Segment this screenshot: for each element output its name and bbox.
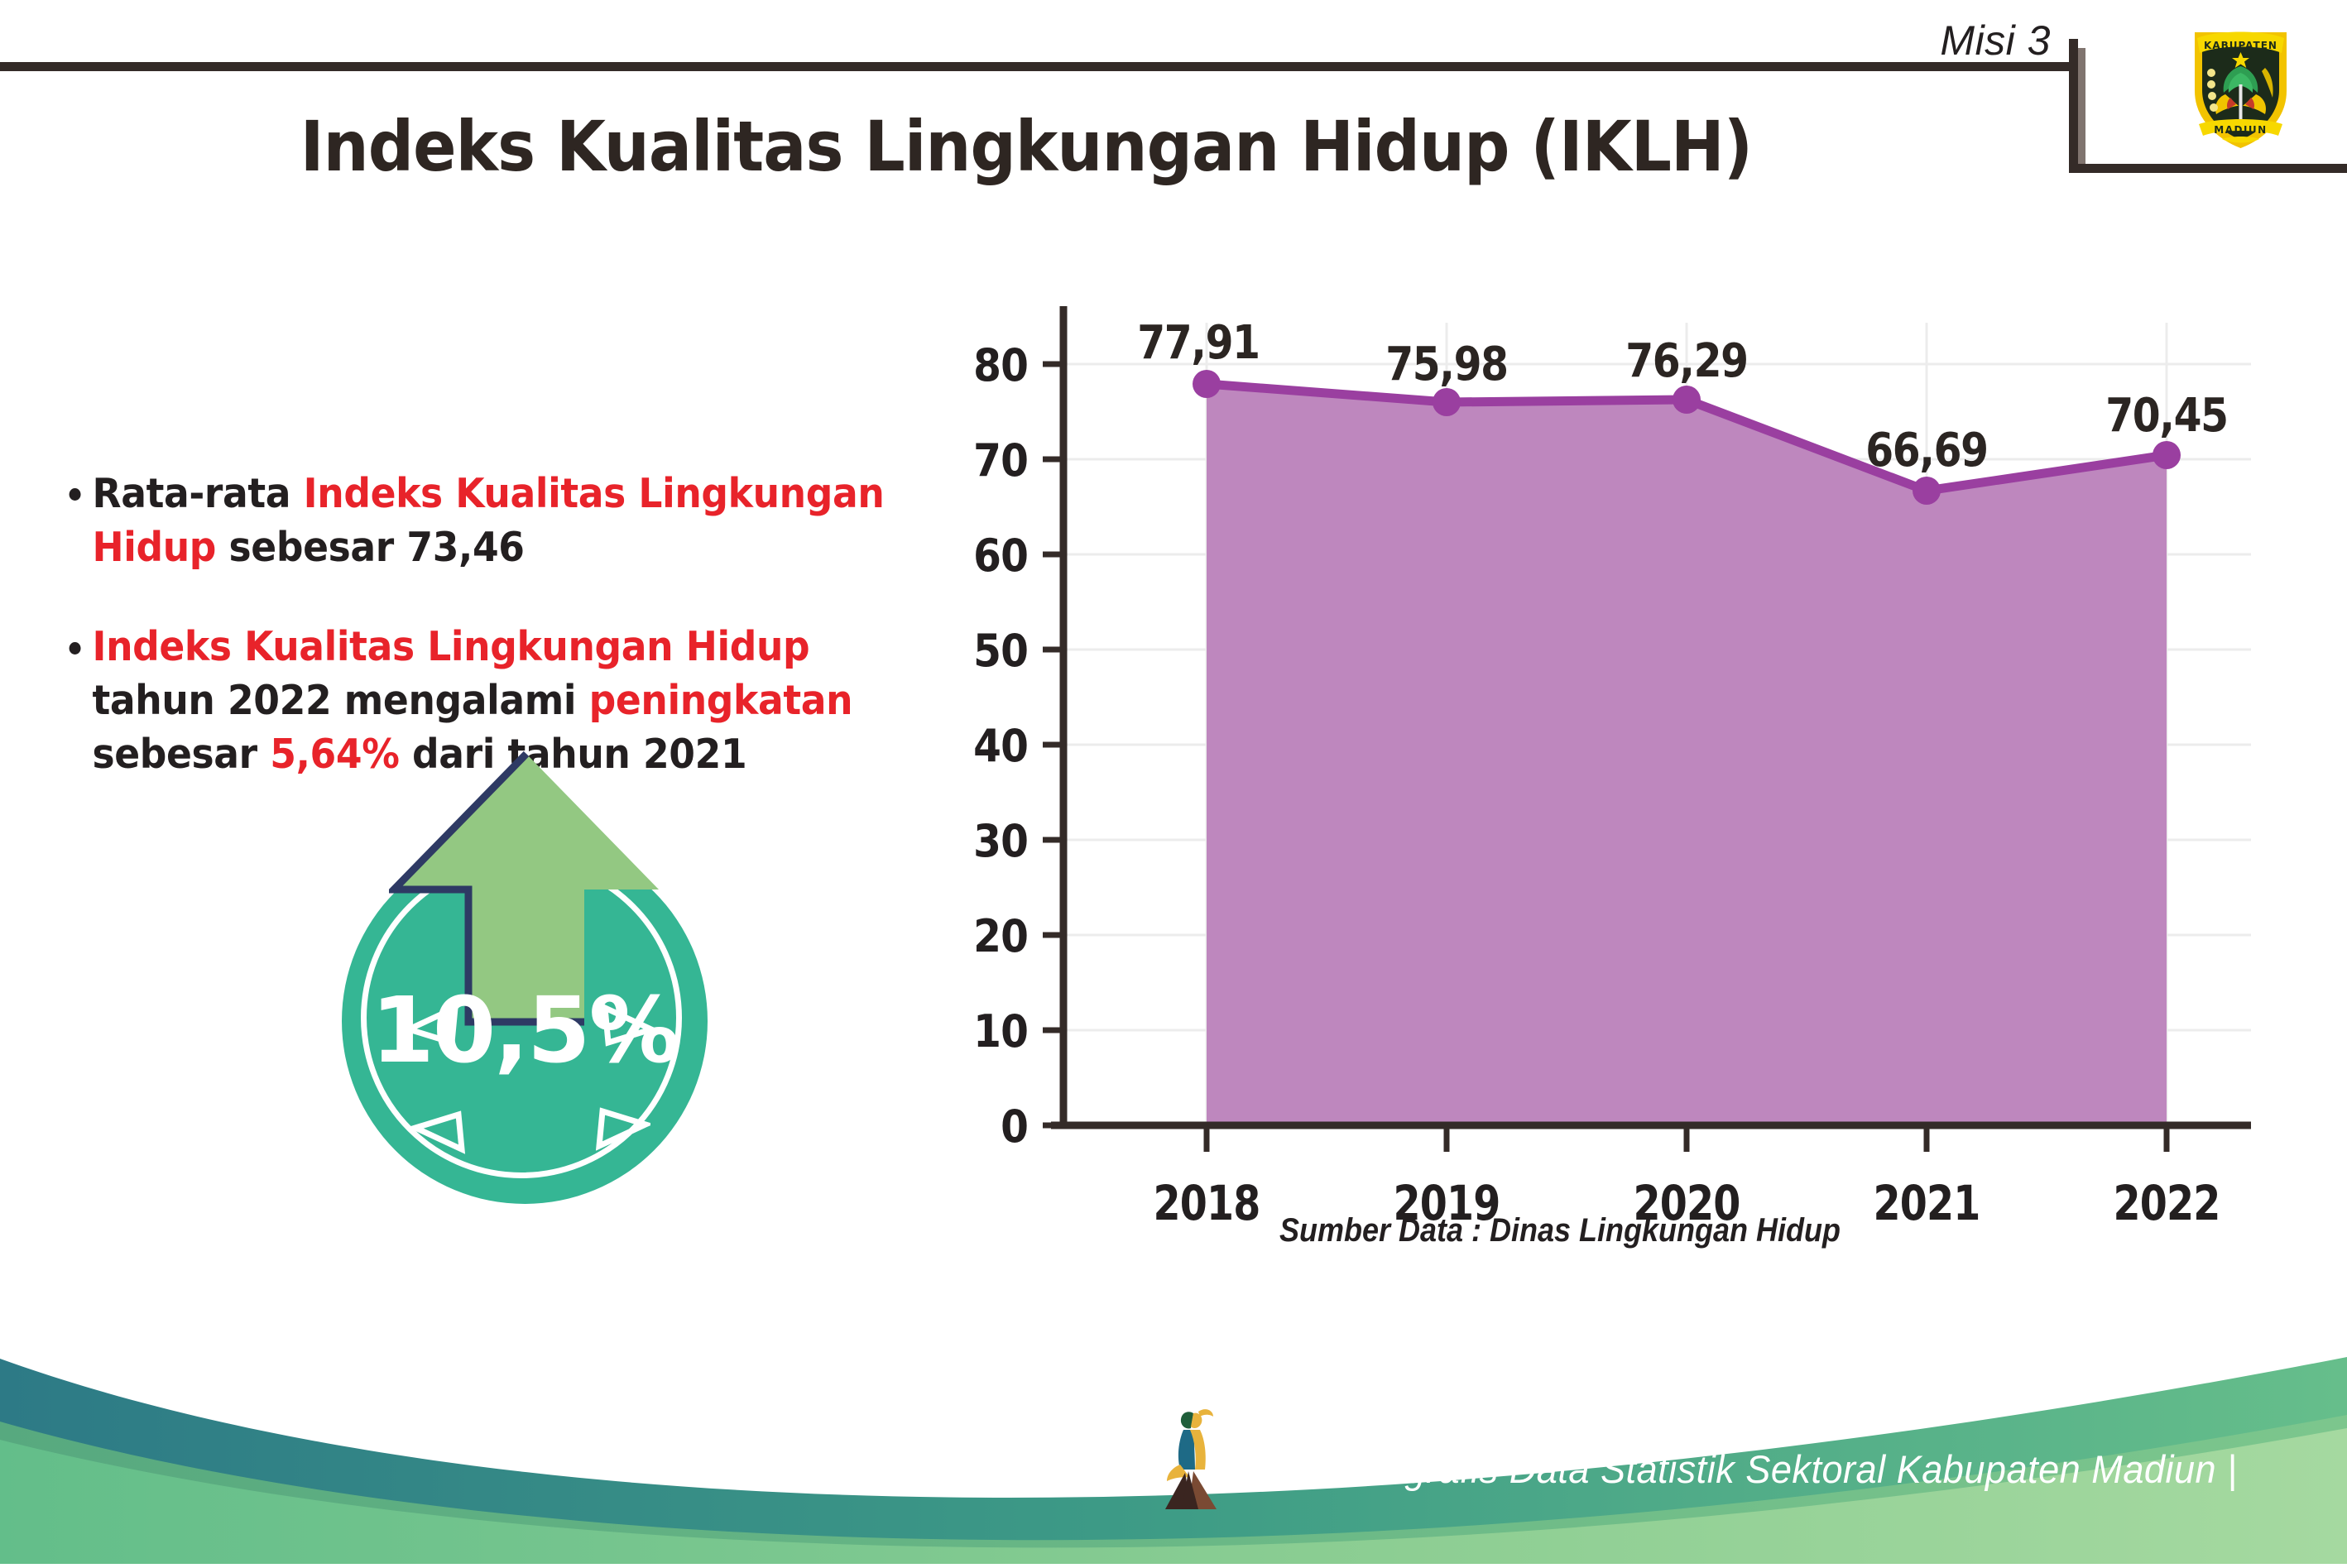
footer-text: Media Infografis Data Statistik Sektoral… (1226, 1446, 2237, 1492)
y-tick-label: 50 (931, 625, 1028, 677)
bullet-1-seg-1: Rata-rata (92, 470, 303, 517)
y-tick-label: 30 (931, 815, 1028, 867)
bullet-2-seg-4: sebesar (92, 731, 270, 778)
page-title: Indeks Kualitas Lingkungan Hidup (IKLH) (82, 106, 1970, 187)
iklh-area-chart: 80 70 60 50 40 30 20 10 0 2018 2019 2020… (927, 273, 2292, 1283)
y-tick-label: 60 (931, 530, 1028, 582)
y-tick-label: 20 (931, 910, 1028, 962)
dancer-mascot-icon (1147, 1405, 1236, 1513)
chart-area-fill (1207, 384, 2167, 1125)
bullet-1-seg-3: sebesar 73,46 (216, 524, 525, 571)
bullet-2-seg-2: tahun 2022 mengalami (92, 677, 588, 724)
mission-label: Misi 3 (1836, 17, 2051, 65)
bullet-dot (70, 642, 81, 655)
data-label: 70,45 (2073, 389, 2260, 443)
infographic-slide: Misi 3 KABUPATEN MADIUN I (0, 0, 2347, 1564)
bullet-2-seg-3: peningkatan (589, 677, 853, 724)
data-label: 75,98 (1353, 338, 1540, 391)
data-label: 77,91 (1105, 316, 1292, 370)
badge-tick-bottom-left-icon (410, 1103, 468, 1154)
y-tick-label: 70 (931, 434, 1028, 487)
badge-value: 10,5% (342, 985, 708, 1076)
data-label: 66,69 (1833, 424, 2020, 477)
data-label: 76,29 (1593, 334, 1780, 388)
bullet-dot (70, 488, 81, 501)
svg-text:MADIUN: MADIUN (2214, 124, 2267, 136)
badge-tick-bottom-right-icon (593, 1100, 650, 1151)
chart-x-ticks (1207, 1125, 2167, 1152)
header-bracket-vertical (2069, 39, 2078, 173)
increase-badge: 10,5% (313, 749, 743, 1204)
y-tick-label: 10 (931, 1005, 1028, 1057)
header-bracket-shadow (2078, 48, 2085, 173)
bullet-2-seg-1: Indeks Kualitas Lingkungan Hidup (92, 623, 809, 670)
list-item: Rata-rata Indeks Kualitas Lingkungan Hid… (65, 468, 919, 574)
kabupaten-madiun-logo-icon: KABUPATEN MADIUN (2189, 18, 2292, 151)
bullet-list: Rata-rata Indeks Kualitas Lingkungan Hid… (65, 468, 983, 781)
header-rule (0, 62, 2077, 71)
source-note: Sumber Data : Dinas Lingkungan Hidup (991, 1212, 2130, 1249)
header-bracket-horizontal (2069, 164, 2347, 173)
svg-text:KABUPATEN: KABUPATEN (2204, 40, 2277, 51)
footer-banner: Media Infografis Data Statistik Sektoral… (0, 1324, 2347, 1564)
y-tick-label: 0 (931, 1100, 1028, 1153)
y-tick-label: 80 (931, 339, 1028, 391)
y-tick-label: 40 (931, 720, 1028, 772)
